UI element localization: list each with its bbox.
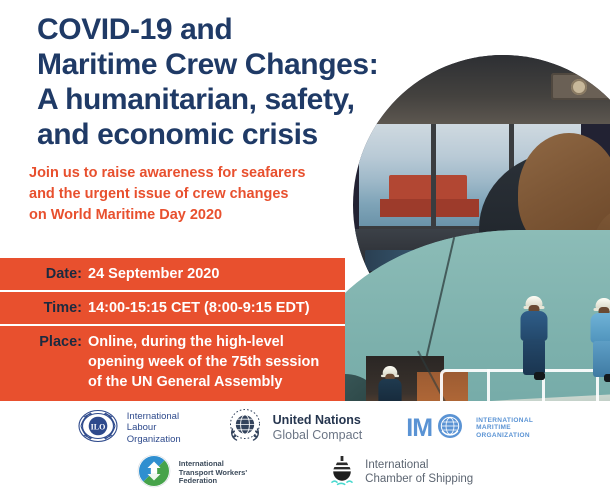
logo-imo-wordmark: IM xyxy=(406,414,432,443)
crew-boot xyxy=(534,372,545,380)
detail-label: Place: xyxy=(0,332,88,352)
svg-text:ILO: ILO xyxy=(90,422,105,431)
logo-ilo-label: International Labour Organization xyxy=(127,411,181,445)
logo-ics-label: International Chamber of Shipping xyxy=(365,459,473,486)
poster: COVID-19 and Maritime Crew Changes: A hu… xyxy=(0,0,610,495)
detail-row-date: Date: 24 September 2020 xyxy=(0,258,345,292)
detail-value: Online, during the high-level opening we… xyxy=(88,332,327,392)
crew-torso xyxy=(521,311,548,341)
detail-value: 14:00-15:15 CET (8:00-9:15 EDT) xyxy=(88,298,318,318)
window-mullion xyxy=(431,121,436,229)
red-vessel-hull xyxy=(380,199,479,217)
detail-label: Time: xyxy=(0,298,88,318)
detail-row-time: Time: 14:00-15:15 CET (8:00-9:15 EDT) xyxy=(0,292,345,326)
logo-row-primary: ILO International Labour Organization xyxy=(0,405,610,451)
logo-itf-label: International Transport Workers' Federat… xyxy=(179,460,247,487)
ilo-emblem-icon: ILO xyxy=(77,408,119,449)
itf-arrows-icon xyxy=(137,454,171,493)
detail-row-place: Place: Online, during the high-level ope… xyxy=(0,326,345,402)
detail-label: Date: xyxy=(0,264,88,284)
page-title: COVID-19 and Maritime Crew Changes: A hu… xyxy=(37,12,397,152)
imo-emblem-icon xyxy=(437,413,463,444)
crew-boot xyxy=(604,374,610,382)
crew-legs xyxy=(593,341,610,377)
subtitle: Join us to raise awareness for seafarers… xyxy=(29,163,359,226)
logo-ungc-line1: United Nations xyxy=(273,413,363,428)
logo-imo: IM INTERNATIONAL MARITIME ORG xyxy=(406,413,533,444)
logo-imo-label: INTERNATIONAL MARITIME ORGANIZATION xyxy=(476,417,533,440)
logo-ics: International Chamber of Shipping xyxy=(327,455,473,492)
logo-bar: ILO International Labour Organization xyxy=(0,401,610,495)
ship-bow-icon xyxy=(327,455,357,492)
crew-legs xyxy=(523,339,545,375)
un-globe-laurel-icon xyxy=(225,408,265,449)
event-details-panel: Date: 24 September 2020 Time: 14:00-15:1… xyxy=(0,258,345,408)
logo-itf: International Transport Workers' Federat… xyxy=(137,454,247,493)
logo-ilo: ILO International Labour Organization xyxy=(77,408,181,449)
detail-value: 24 September 2020 xyxy=(88,264,227,284)
crew-torso xyxy=(591,313,610,343)
logo-ungc-label: United Nations Global Compact xyxy=(273,413,363,443)
logo-row-secondary: International Transport Workers' Federat… xyxy=(0,451,610,495)
logo-ungc-line2: Global Compact xyxy=(273,428,363,443)
logo-un-global-compact: United Nations Global Compact xyxy=(225,408,363,449)
bridge-dial-icon xyxy=(571,79,587,95)
